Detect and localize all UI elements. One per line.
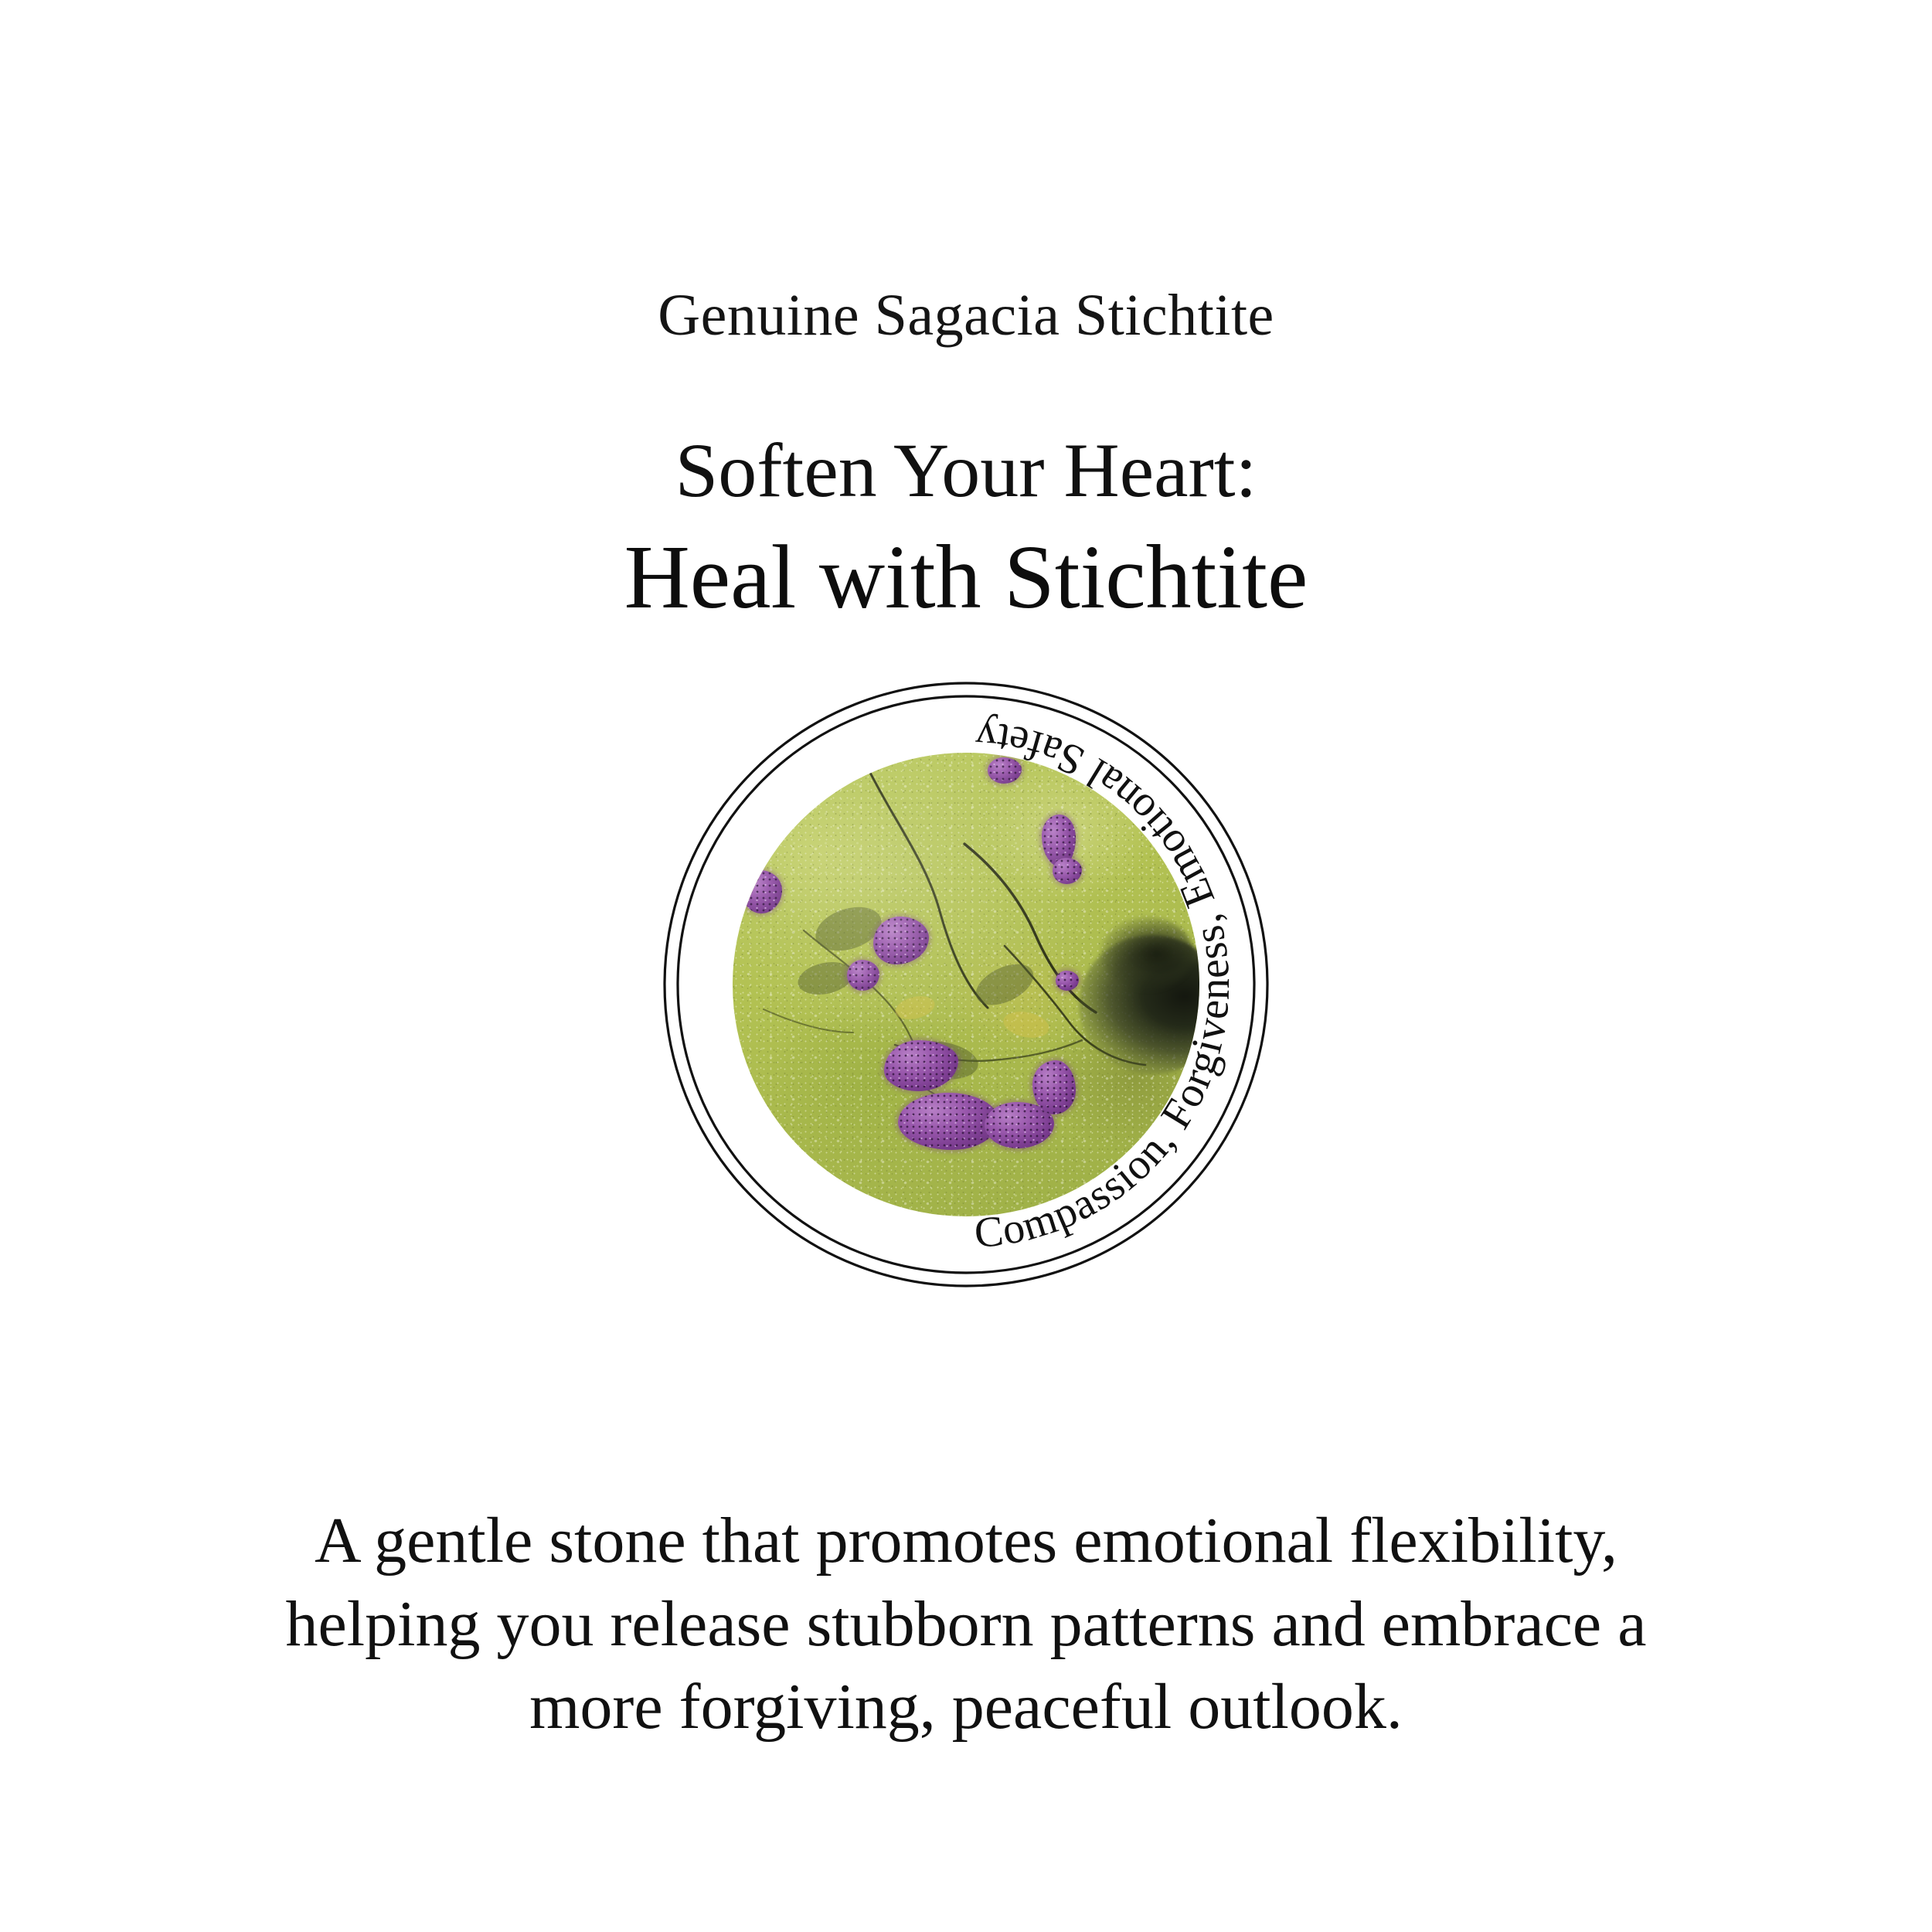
badge-rings-and-text: Compassion, Forgiveness, Emotional Safet…: [626, 645, 1306, 1325]
description-line-1: A gentle stone that promotes emotional f…: [0, 1499, 1932, 1583]
brand-eyebrow: Genuine Sagacia Stichtite: [0, 286, 1932, 345]
description-paragraph: A gentle stone that promotes emotional f…: [0, 1499, 1932, 1749]
headline-block: Soften Your Heart: Heal with Stichtite: [0, 429, 1932, 628]
description-line-3: more forgiving, peaceful outlook.: [0, 1665, 1932, 1749]
description-line-2: helping you release stubborn patterns an…: [0, 1583, 1932, 1666]
badge-outer-ring: [665, 683, 1267, 1286]
badge-inner-ring: [678, 696, 1254, 1273]
product-card: Genuine Sagacia Stichtite Soften Your He…: [0, 0, 1932, 1932]
headline-line-2: Heal with Stichtite: [0, 526, 1932, 628]
headline-line-1: Soften Your Heart:: [0, 429, 1932, 512]
